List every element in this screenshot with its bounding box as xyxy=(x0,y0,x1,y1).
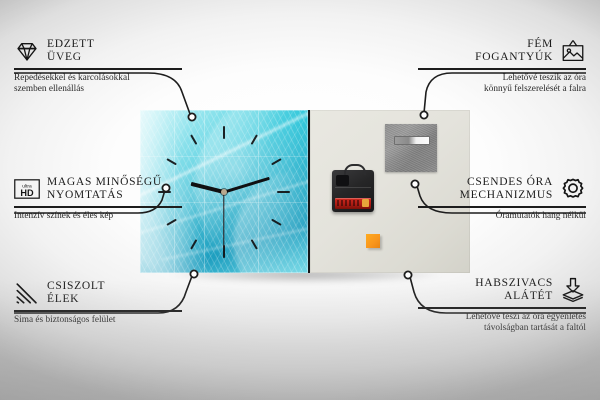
hour-hand xyxy=(191,181,225,193)
clock-tick xyxy=(223,126,225,139)
clock-tick xyxy=(190,239,197,250)
clock-tick xyxy=(251,239,258,250)
battery xyxy=(335,198,371,209)
clock-tick xyxy=(271,158,282,165)
feature-rule xyxy=(418,68,586,70)
feature-rule xyxy=(14,310,182,312)
polished-edges-icon xyxy=(14,280,40,306)
feature-habszivacs-alatet: HABSZIVACS ALÁTÉT Lehetővé teszi az óra … xyxy=(418,277,586,334)
gear-icon xyxy=(560,176,586,202)
feature-header: ultra HD MAGAS MINŐSÉGŰ NYOMTATÁS xyxy=(14,176,182,202)
feature-header: EDZETT ÜVEG xyxy=(14,38,182,64)
mechanism-barrel xyxy=(336,175,349,186)
ultra-hd-hd-text: HD xyxy=(20,188,34,198)
feature-title: HABSZIVACS ALÁTÉT xyxy=(475,277,553,303)
ultra-hd-icon: ultra HD xyxy=(14,176,40,202)
feature-magas-minosegu-nyomtatas: ultra HD MAGAS MINŐSÉGŰ NYOMTATÁS Intenz… xyxy=(14,176,182,222)
feature-title: FÉM FOGANTYÚK xyxy=(475,38,553,64)
metal-texture xyxy=(385,124,437,172)
diamond-icon xyxy=(14,38,40,64)
infographic-stage: EDZETT ÜVEG Repedésekkel és karcolásokka… xyxy=(0,0,600,400)
feature-fem-fogantyuk: FÉM FOGANTYÚK Lehetővé teszik az óra kön… xyxy=(418,38,586,95)
feature-rule xyxy=(14,206,182,208)
battery-label xyxy=(337,200,360,206)
feature-csiszolt-elek: CSISZOLT ÉLEK Sima és biztonságos felüle… xyxy=(14,280,182,326)
feature-description: Lehetővé teszi az óra egyenletes távolsá… xyxy=(418,312,586,335)
feature-header: CSENDES ÓRA MECHANIZMUS xyxy=(418,176,586,202)
minute-hand xyxy=(224,176,270,193)
feature-description: Óramutatók hang nélkül xyxy=(418,211,586,222)
clock-tick xyxy=(166,158,177,165)
feature-header: CSISZOLT ÉLEK xyxy=(14,280,182,306)
feature-header: HABSZIVACS ALÁTÉT xyxy=(418,277,586,303)
metal-hanger-part xyxy=(385,124,437,172)
feature-csendes-ora-mechanizmus: CSENDES ÓRA MECHANIZMUS Óramutatók hang … xyxy=(418,176,586,222)
feature-header: FÉM FOGANTYÚK xyxy=(418,38,586,64)
foam-pad-part xyxy=(366,234,380,248)
feature-title: CSISZOLT ÉLEK xyxy=(47,280,105,306)
feature-rule xyxy=(14,68,182,70)
clock-tick xyxy=(251,134,258,145)
feature-description: Repedésekkel és karcolásokkal szemben el… xyxy=(14,73,182,96)
feature-edzett-uveg: EDZETT ÜVEG Repedésekkel és karcolásokka… xyxy=(14,38,182,95)
mechanism-handle xyxy=(344,164,366,175)
second-hand xyxy=(223,192,224,248)
clock-center-cap xyxy=(221,189,227,195)
mechanism-seam xyxy=(335,187,371,188)
feature-rule xyxy=(418,307,586,309)
feature-title: CSENDES ÓRA MECHANIZMUS xyxy=(460,176,553,202)
battery-terminal xyxy=(362,199,369,207)
clock-tick xyxy=(271,218,282,225)
feature-rule xyxy=(418,206,586,208)
clock-tick xyxy=(190,134,197,145)
clock-tick xyxy=(277,191,290,193)
hanger-slot xyxy=(394,136,430,145)
picture-hanger-icon xyxy=(560,38,586,64)
feature-description: Intenzív színek és éles kép xyxy=(14,211,182,222)
feature-description: Lehetővé teszik az óra könnyű felszerelé… xyxy=(418,73,586,96)
feature-title: MAGAS MINŐSÉGŰ NYOMTATÁS xyxy=(47,176,162,202)
clock-mechanism-part xyxy=(332,170,374,212)
feature-title: EDZETT ÜVEG xyxy=(47,38,95,64)
feature-description: Sima és biztonságos felület xyxy=(14,315,182,326)
foam-pad-icon xyxy=(560,277,586,303)
